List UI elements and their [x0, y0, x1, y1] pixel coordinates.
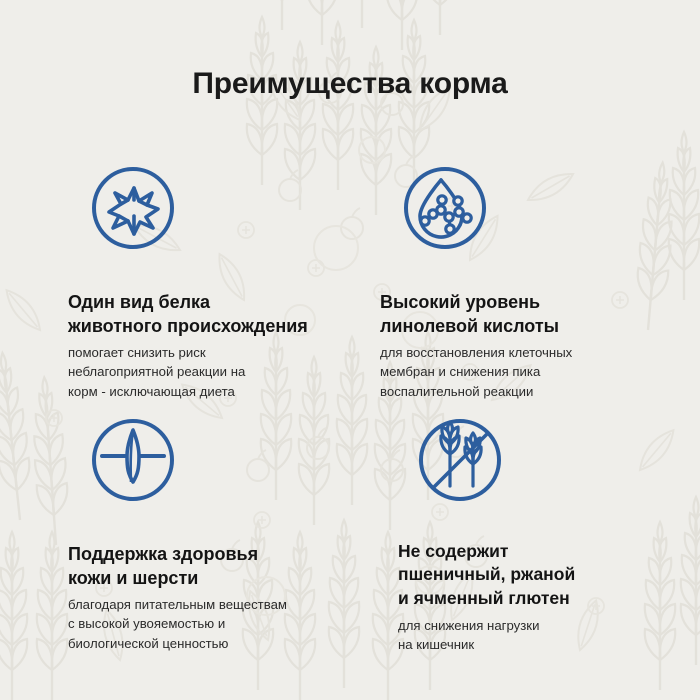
infographic-page: Преимущества корма Один вид белка животн…: [0, 0, 700, 700]
feature-text-block: Высокий уровень линолевой кислоты для во…: [380, 291, 700, 401]
feature-body: благодаря питательным веществам с высоко…: [68, 595, 398, 654]
feature-body: помогает снизить риск неблагоприятной ре…: [68, 343, 398, 402]
feature-card-gluten-free: Не содержит пшеничный, ржаной и ячменный…: [398, 412, 700, 655]
feature-heading: Не содержит пшеничный, ржаной и ячменный…: [398, 540, 700, 610]
page-title: Преимущества корма: [0, 67, 700, 101]
feature-card-linoleic-acid: Высокий уровень линолевой кислоты для во…: [380, 160, 700, 401]
feature-heading: Один вид белка животного происхождения: [68, 291, 398, 339]
feature-text-block: Поддержка здоровья кожи и шерсти благода…: [68, 543, 398, 653]
feature-heading: Высокий уровень линолевой кислоты: [380, 291, 700, 339]
feature-body: для восстановления клеточных мембран и с…: [380, 343, 700, 402]
feature-heading: Поддержка здоровья кожи и шерсти: [68, 543, 398, 591]
feature-text-block: Не содержит пшеничный, ржаной и ячменный…: [398, 540, 700, 655]
water-drop-molecule-icon: [397, 160, 493, 256]
feature-body: для снижения нагрузки на кишечник: [398, 616, 700, 655]
feature-card-single-protein: Один вид белка животного происхождения п…: [68, 160, 398, 401]
gluten-free-wheat-icon: [412, 412, 508, 508]
hair-follicle-icon: [85, 412, 181, 508]
dna-helix-icon: [85, 160, 181, 256]
feature-card-skin-coat: Поддержка здоровья кожи и шерсти благода…: [68, 412, 398, 653]
feature-text-block: Один вид белка животного происхождения п…: [68, 291, 398, 401]
